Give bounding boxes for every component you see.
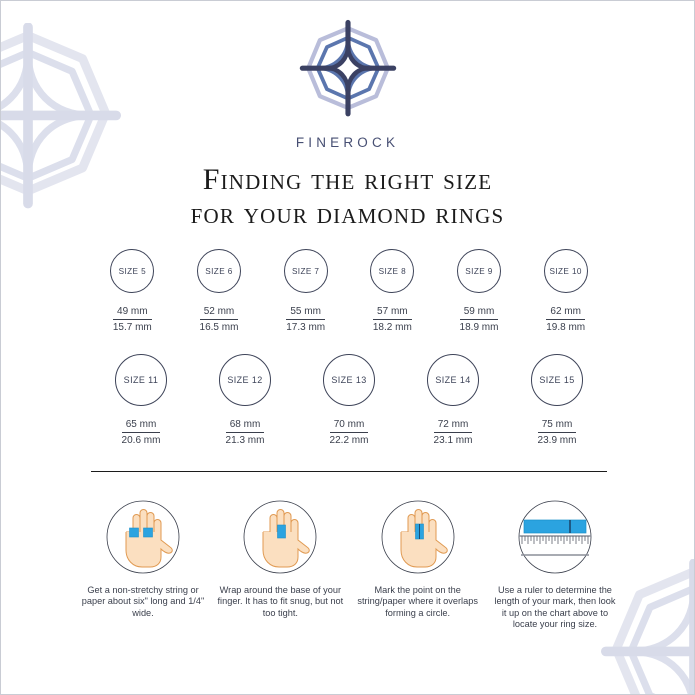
- circumference-value: 59 mm: [460, 306, 499, 320]
- diameter-value: 18.9 mm: [460, 320, 499, 333]
- instruction-step: Use a ruler to determine the length of y…: [491, 498, 619, 631]
- diameter-value: 23.1 mm: [434, 433, 473, 446]
- circumference-value: 52 mm: [200, 306, 239, 320]
- size-measurements: 49 mm 15.7 mm: [113, 306, 152, 333]
- circumference-value: 65 mm: [122, 419, 161, 433]
- diameter-value: 21.3 mm: [226, 433, 265, 446]
- size-circle: SIZE 10: [544, 249, 588, 293]
- circumference-value: 68 mm: [226, 419, 265, 433]
- size-row-first: SIZE 5 49 mm 15.7 mm SIZE 6 52 mm 16.5 m…: [89, 249, 609, 335]
- size-circle: SIZE 7: [284, 249, 328, 293]
- diameter-value: 15.7 mm: [113, 320, 152, 333]
- instruction-step: Mark the point on the string/paper where…: [354, 498, 482, 631]
- size-measurements: 75 mm 23.9 mm: [538, 419, 577, 446]
- size-row-second: SIZE 11 65 mm 20.6 mm SIZE 12 68 mm 21.3…: [89, 354, 609, 448]
- ruler-measuring-icon: [508, 498, 602, 576]
- diameter-value: 16.5 mm: [200, 320, 239, 333]
- size-measurements: 57 mm 18.2 mm: [373, 306, 412, 333]
- diameter-value: 19.8 mm: [546, 320, 585, 333]
- size-label: SIZE 13: [331, 375, 366, 385]
- size-circle: SIZE 5: [110, 249, 154, 293]
- size-label: SIZE 15: [539, 375, 574, 385]
- size-cell: SIZE 8 57 mm 18.2 mm: [349, 249, 436, 335]
- hand-with-string-icon: [96, 498, 190, 576]
- size-label: SIZE 5: [119, 267, 146, 276]
- size-circle: SIZE 12: [219, 354, 271, 406]
- step-caption: Get a non-stretchy string or paper about…: [79, 585, 207, 619]
- diameter-value: 22.2 mm: [330, 433, 369, 446]
- size-cell: SIZE 14 72 mm 23.1 mm: [401, 354, 505, 448]
- instruction-step: Wrap around the base of your finger. It …: [216, 498, 344, 631]
- size-cell: SIZE 6 52 mm 16.5 mm: [176, 249, 263, 335]
- size-label: SIZE 11: [124, 375, 159, 385]
- hand-wrapping-finger-icon: [233, 498, 327, 576]
- circumference-value: 75 mm: [538, 419, 577, 433]
- step-caption: Wrap around the base of your finger. It …: [216, 585, 344, 619]
- size-label: SIZE 14: [435, 375, 470, 385]
- diameter-value: 17.3 mm: [286, 320, 325, 333]
- size-cell: SIZE 9 59 mm 18.9 mm: [436, 249, 523, 335]
- page-title-line-1: Finding the right size: [1, 163, 694, 197]
- size-cell: SIZE 12 68 mm 21.3 mm: [193, 354, 297, 448]
- size-measurements: 68 mm 21.3 mm: [226, 419, 265, 446]
- size-measurements: 59 mm 18.9 mm: [460, 306, 499, 333]
- size-circle: SIZE 11: [115, 354, 167, 406]
- size-measurements: 65 mm 20.6 mm: [122, 419, 161, 446]
- size-cell: SIZE 13 70 mm 22.2 mm: [297, 354, 401, 448]
- size-circle: SIZE 14: [427, 354, 479, 406]
- ring-size-chart-page: FINEROCK Finding the right size for your…: [0, 0, 695, 695]
- size-label: SIZE 12: [227, 375, 262, 385]
- step-caption: Mark the point on the string/paper where…: [354, 585, 482, 619]
- size-measurements: 52 mm 16.5 mm: [200, 306, 239, 333]
- brand-name: FINEROCK: [1, 135, 694, 150]
- size-circle: SIZE 6: [197, 249, 241, 293]
- diameter-value: 23.9 mm: [538, 433, 577, 446]
- brand-logo-block: FINEROCK: [1, 19, 694, 150]
- size-label: SIZE 9: [465, 267, 492, 276]
- circumference-value: 49 mm: [113, 306, 152, 320]
- circumference-value: 57 mm: [373, 306, 412, 320]
- size-label: SIZE 6: [205, 267, 232, 276]
- circumference-value: 70 mm: [330, 419, 369, 433]
- instruction-steps: Get a non-stretchy string or paper about…: [79, 498, 619, 631]
- diameter-value: 20.6 mm: [122, 433, 161, 446]
- circumference-value: 55 mm: [286, 306, 325, 320]
- compass-star-icon: [289, 19, 407, 129]
- size-label: SIZE 7: [292, 267, 319, 276]
- size-measurements: 55 mm 17.3 mm: [286, 306, 325, 333]
- size-cell: SIZE 11 65 mm 20.6 mm: [89, 354, 193, 448]
- page-title-line-2: for your diamond rings: [1, 197, 694, 231]
- size-measurements: 72 mm 23.1 mm: [434, 419, 473, 446]
- size-label: SIZE 8: [379, 267, 406, 276]
- size-measurements: 62 mm 19.8 mm: [546, 306, 585, 333]
- size-cell: SIZE 7 55 mm 17.3 mm: [262, 249, 349, 335]
- size-cell: SIZE 5 49 mm 15.7 mm: [89, 249, 176, 335]
- size-cell: SIZE 10 62 mm 19.8 mm: [522, 249, 609, 335]
- size-cell: SIZE 15 75 mm 23.9 mm: [505, 354, 609, 448]
- size-label: SIZE 10: [549, 267, 581, 276]
- size-circle: SIZE 9: [457, 249, 501, 293]
- circumference-value: 62 mm: [546, 306, 585, 320]
- size-circle: SIZE 15: [531, 354, 583, 406]
- size-measurements: 70 mm 22.2 mm: [330, 419, 369, 446]
- size-circle: SIZE 13: [323, 354, 375, 406]
- page-title: Finding the right size for your diamond …: [1, 163, 694, 231]
- step-caption: Use a ruler to determine the length of y…: [491, 585, 619, 631]
- hand-marking-point-icon: [371, 498, 465, 576]
- instruction-step: Get a non-stretchy string or paper about…: [79, 498, 207, 631]
- section-divider: [91, 471, 607, 472]
- circumference-value: 72 mm: [434, 419, 473, 433]
- diameter-value: 18.2 mm: [373, 320, 412, 333]
- size-circle: SIZE 8: [370, 249, 414, 293]
